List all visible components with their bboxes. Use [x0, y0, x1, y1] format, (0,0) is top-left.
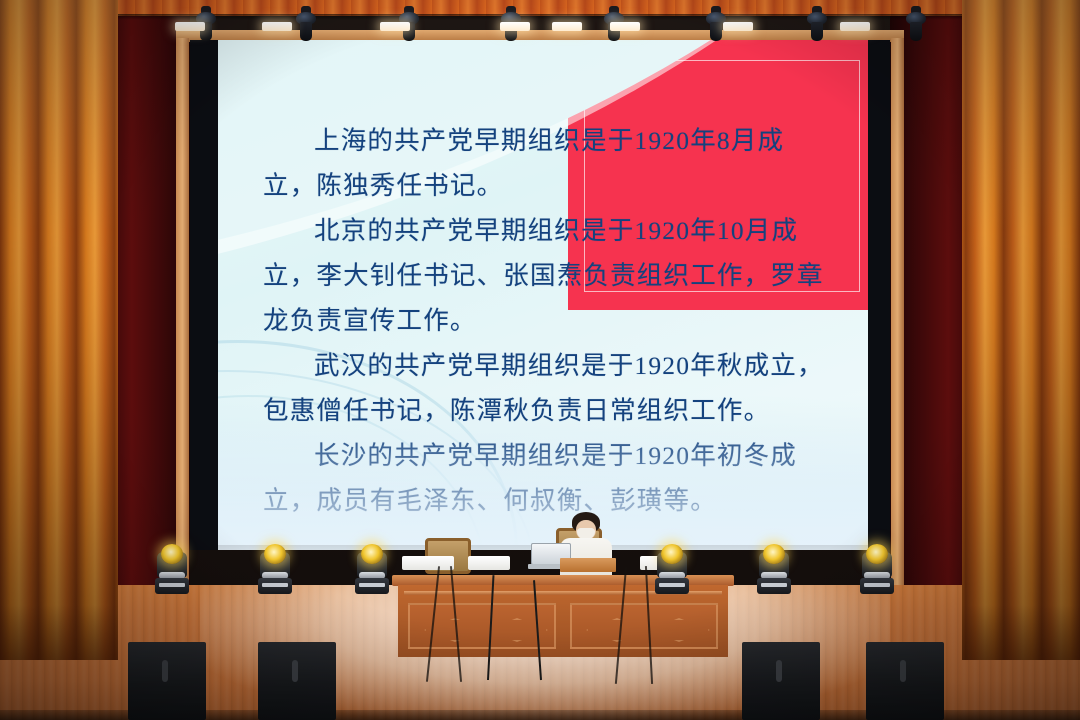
stage-monitor-3 [742, 642, 820, 720]
stage-monitor-1 [128, 642, 206, 720]
desk-panel-right [570, 603, 718, 649]
slide-text-block: 上海的共产党早期组织是于1920年8月成立，陈独秀任书记。 北京的共产党早期组织… [218, 40, 868, 545]
bar-light-icon-2 [262, 22, 292, 31]
slide-paragraph-4: 长沙的共产党早期组织是于1920年初冬成立，成员有毛泽东、何叔衡、彭璜等。 [263, 433, 826, 523]
bar-light-icon-3 [380, 22, 410, 31]
truss-spotlight-icon-2 [295, 6, 317, 40]
bar-light-icon-5 [552, 22, 582, 31]
moving-head-light-5 [757, 542, 791, 594]
moving-head-light-3 [355, 542, 389, 594]
bar-light-icon-1 [175, 22, 205, 31]
proscenium-frame-right [891, 38, 904, 598]
slide-paragraph-1: 上海的共产党早期组织是于1920年8月成立，陈独秀任书记。 [263, 118, 826, 208]
bar-light-icon-8 [840, 22, 870, 31]
truss-spotlight-icon-8 [905, 6, 927, 40]
slide-paragraph-3: 武汉的共产党早期组织是于1920年秋成立，包惠僧任书记，陈潭秋负责日常组织工作。 [263, 343, 826, 433]
orange-stage-curtain-left [0, 0, 118, 660]
moving-head-light-4 [655, 542, 689, 594]
desk-front-body [398, 585, 728, 657]
stage-scene: 上海的共产党早期组织是于1920年8月成立，陈独秀任书记。 北京的共产党早期组织… [0, 0, 1080, 720]
bar-light-icon-7 [723, 22, 753, 31]
presentation-slide: 上海的共产党早期组织是于1920年8月成立，陈独秀任书记。 北京的共产党早期组织… [218, 40, 868, 545]
stage-monitor-2 [258, 642, 336, 720]
orange-stage-curtain-right [962, 0, 1080, 660]
desk-nameplate [560, 558, 616, 572]
desk-papers-mid [468, 556, 510, 570]
slide-paragraph-2: 北京的共产党早期组织是于1920年10月成立，李大钊任书记、张国焘负责组织工作，… [263, 208, 826, 343]
bar-light-icon-4 [500, 22, 530, 31]
truss-spotlight-icon-7 [806, 6, 828, 40]
moving-head-light-1 [155, 542, 189, 594]
proscenium-frame-left [176, 38, 189, 598]
stage-monitor-4 [866, 642, 944, 720]
bar-light-icon-6 [610, 22, 640, 31]
moving-head-light-2 [258, 542, 292, 594]
moving-head-light-6 [860, 542, 894, 594]
desk-papers-left [402, 556, 454, 570]
